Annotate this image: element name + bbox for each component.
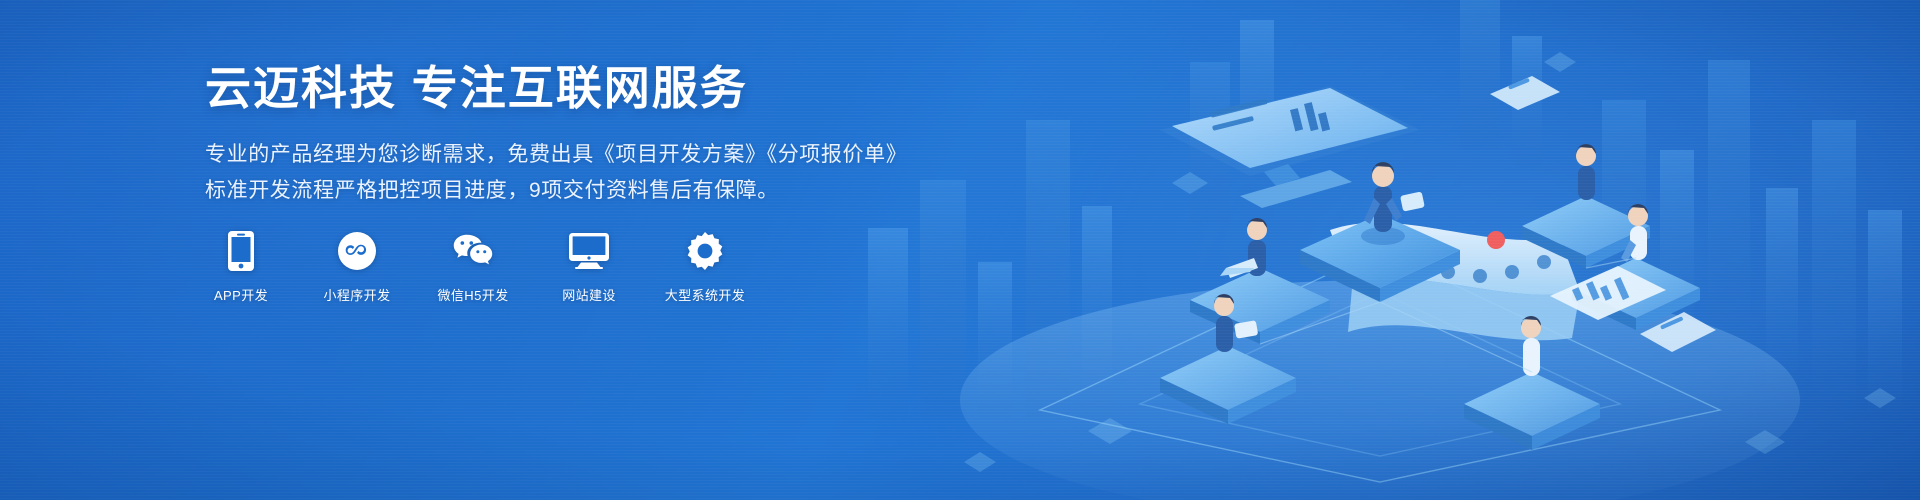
service-item-app[interactable]: APP开发 bbox=[205, 230, 277, 304]
service-label: 微信H5开发 bbox=[437, 285, 508, 304]
wechat-icon bbox=[453, 230, 493, 272]
service-list: APP开发 小程序开发 微信 bbox=[205, 230, 741, 304]
service-label: 小程序开发 bbox=[323, 285, 390, 304]
service-item-mini-program[interactable]: 小程序开发 bbox=[321, 230, 393, 304]
service-item-wechat-h5[interactable]: 微信H5开发 bbox=[437, 230, 509, 304]
hero-subtitle-line-2: 标准开发流程严格把控项目进度，9项交付资料售后有保障。 bbox=[205, 173, 945, 209]
service-item-website[interactable]: 网站建设 bbox=[553, 230, 625, 304]
hero-subtitle: 专业的产品经理为您诊断需求，免费出具《项目开发方案》《分项报价单》 标准开发流程… bbox=[205, 137, 945, 209]
service-item-large-system[interactable]: 大型系统开发 bbox=[669, 230, 741, 304]
hero-copy: 云迈科技 专注互联网服务 专业的产品经理为您诊断需求，免费出具《项目开发方案》《… bbox=[205, 62, 945, 210]
service-label: 大型系统开发 bbox=[665, 285, 745, 304]
mobile-phone-icon bbox=[221, 230, 261, 272]
service-label: APP开发 bbox=[214, 285, 268, 304]
monitor-icon bbox=[569, 230, 609, 272]
hero-subtitle-line-1: 专业的产品经理为您诊断需求，免费出具《项目开发方案》《分项报价单》 bbox=[205, 137, 945, 173]
service-label: 网站建设 bbox=[562, 285, 616, 304]
hero-headline: 云迈科技 专注互联网服务 bbox=[205, 62, 945, 115]
hero-illustration bbox=[860, 0, 1920, 500]
gear-icon bbox=[685, 230, 725, 272]
mini-program-icon bbox=[337, 230, 377, 272]
hero-banner: 云迈科技 专注互联网服务 专业的产品经理为您诊断需求，免费出具《项目开发方案》《… bbox=[0, 0, 1920, 500]
